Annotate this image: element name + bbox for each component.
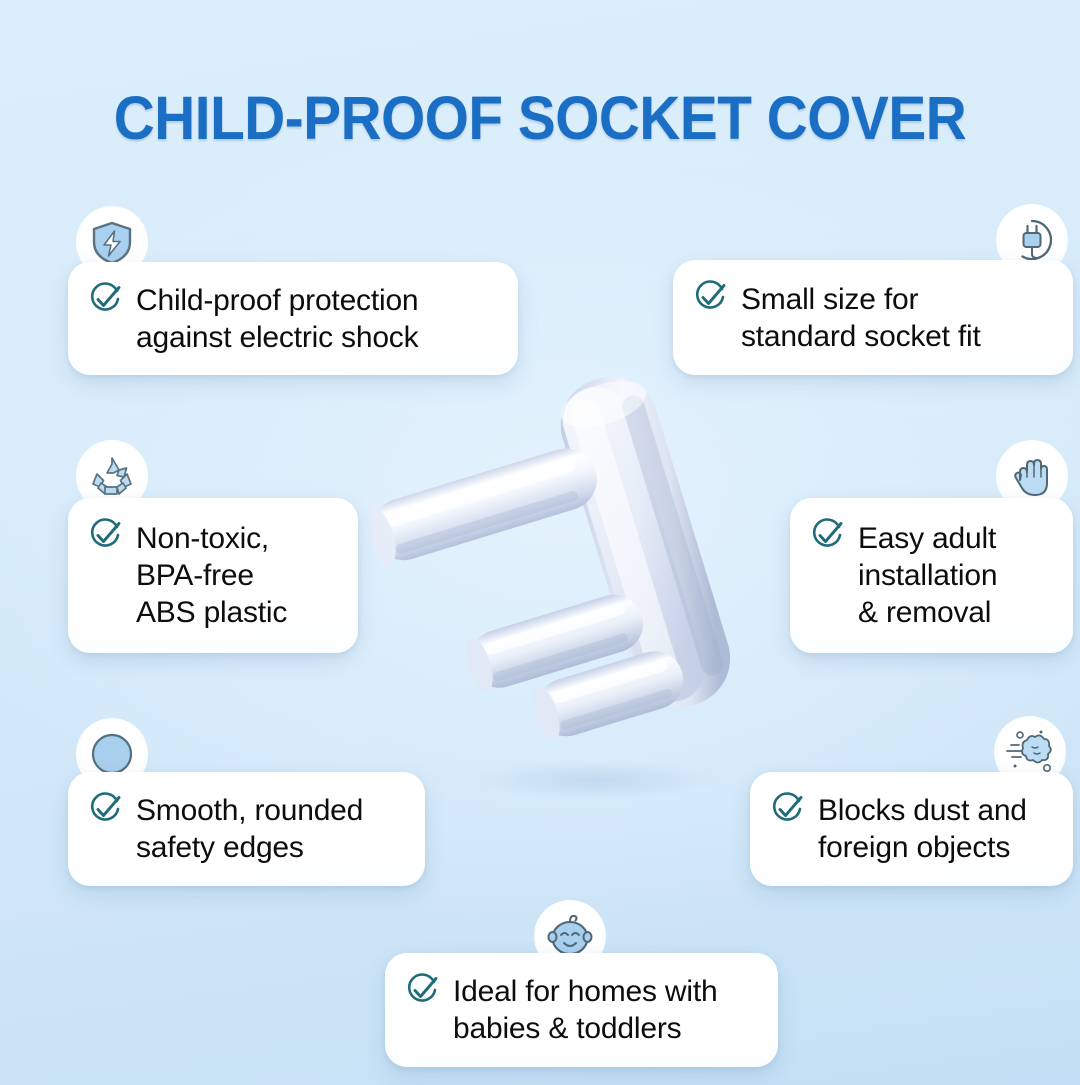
feature-text: Smooth, rounded safety edges [136,792,363,866]
feature-text: Blocks dust and foreign objects [818,792,1027,866]
feature-text: Non-toxic, BPA-free ABS plastic [136,520,287,631]
feature-card-blocks-dust[interactable]: Blocks dust and foreign objects [750,772,1073,886]
check-circle-icon [88,518,122,557]
feature-card-ideal-for-homes[interactable]: Ideal for homes with babies & toddlers [385,953,778,1067]
product-image-socket-cover [372,352,792,802]
feature-card-small-size[interactable]: Small size for standard socket fit [673,260,1073,375]
feature-card-non-toxic[interactable]: Non-toxic, BPA-free ABS plastic [68,498,358,653]
feature-text: Child-proof protection against electric … [136,282,418,356]
check-circle-icon [810,518,844,557]
check-circle-icon [88,792,122,831]
feature-text: Easy adult installation & removal [858,520,997,631]
page-title: CHILD-PROOF SOCKET COVER [38,86,1042,150]
feature-card-easy-installation[interactable]: Easy adult installation & removal [790,498,1073,653]
check-circle-icon [770,792,804,831]
check-circle-icon [88,282,122,321]
check-circle-icon [405,973,439,1012]
feature-card-child-proof-protection[interactable]: Child-proof protection against electric … [68,262,518,375]
feature-text: Small size for standard socket fit [741,281,981,355]
infographic-stage: CHILD-PROOF SOCKET COVER [0,0,1080,1085]
feature-card-smooth-edges[interactable]: Smooth, rounded safety edges [68,772,425,886]
feature-text: Ideal for homes with babies & toddlers [453,973,717,1047]
check-circle-icon [693,280,727,319]
